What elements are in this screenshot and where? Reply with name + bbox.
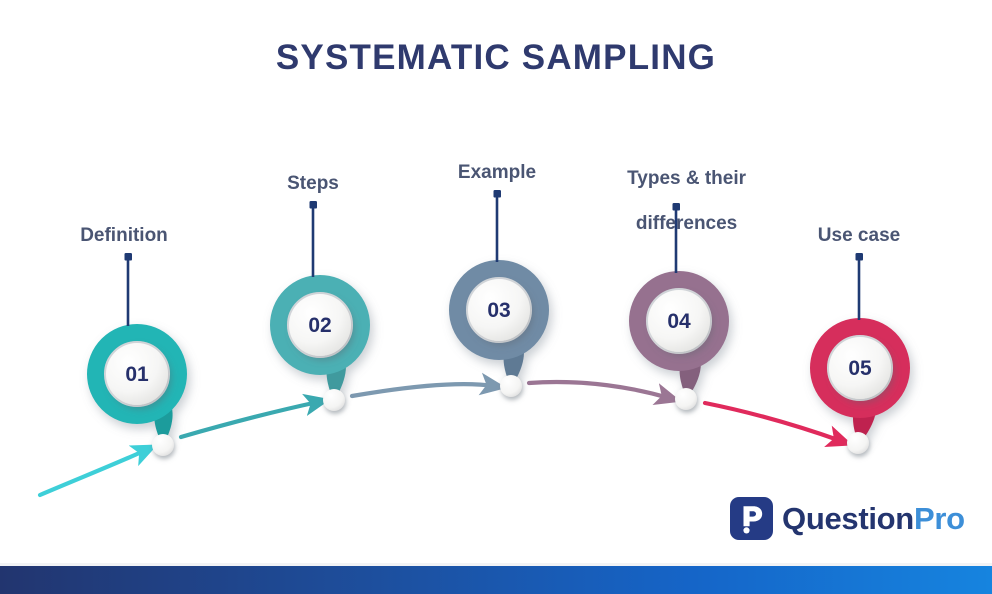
questionpro-logo[interactable]: QuestionPro — [730, 497, 965, 540]
questionpro-wordmark: QuestionPro — [782, 501, 965, 537]
step-number-05: 05 — [830, 357, 890, 381]
step-dot-01 — [152, 434, 174, 456]
step-number-03: 03 — [469, 299, 529, 323]
arrow-02-to-03 — [352, 384, 494, 396]
arrow-01-to-02 — [181, 402, 318, 437]
step-label-types-differences: Types & their differences — [576, 146, 776, 258]
bottom-gradient-bar — [0, 566, 992, 594]
step-marker-02[interactable] — [279, 201, 362, 411]
step-marker-05[interactable] — [819, 253, 902, 454]
step-dot-02 — [323, 389, 345, 411]
step-connector-cap-03 — [494, 190, 502, 198]
arrow-03-to-04 — [529, 382, 669, 398]
question-mark-icon — [739, 504, 765, 534]
step-label-types-line2: differences — [636, 213, 737, 234]
step-marker-03[interactable] — [458, 190, 541, 397]
infographic-canvas: SYSTEMATIC SAMPLING — [0, 0, 992, 594]
step-marker-01[interactable] — [96, 253, 179, 456]
step-connector-cap-05 — [856, 253, 864, 261]
step-number-04: 04 — [649, 310, 709, 334]
step-connector-cap-01 — [125, 253, 133, 261]
logo-text-question: Question — [782, 501, 914, 536]
step-label-definition: Definition — [24, 225, 224, 247]
questionpro-mark-icon — [730, 497, 773, 540]
step-label-example: Example — [397, 162, 597, 184]
step-number-01: 01 — [107, 363, 167, 387]
step-label-types-line1: Types & their — [627, 168, 746, 189]
step-dot-05 — [847, 432, 869, 454]
logo-text-pro: Pro — [914, 501, 965, 536]
step-label-use-case: Use case — [759, 225, 959, 247]
step-label-steps: Steps — [213, 173, 413, 195]
step-number-02: 02 — [290, 314, 350, 338]
arrow-04-to-05 — [705, 403, 841, 441]
arrow-intro — [40, 450, 146, 495]
step-dot-04 — [675, 388, 697, 410]
step-connector-cap-02 — [310, 201, 318, 209]
step-dot-03 — [500, 375, 522, 397]
